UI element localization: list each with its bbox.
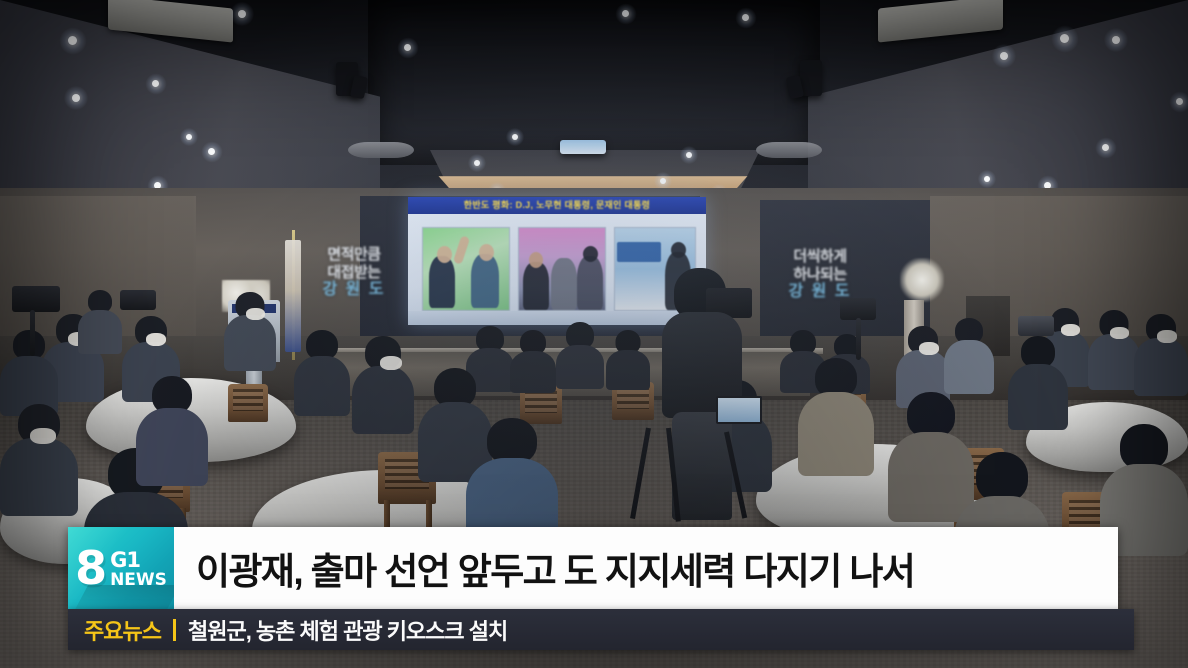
ceiling-light [512,134,518,140]
audience-person [556,322,604,386]
ticker-separator [173,619,176,641]
ceiling-light [208,148,215,155]
audience-person [136,376,208,484]
ceiling-projector-right [800,60,822,96]
audience-person [352,336,414,432]
broadcast-screenshot: 면적만큼 대접받는 강 원 도 더씩하게 하나되는 강 원 도 한반도 평화: … [0,0,1188,668]
camera-lcd-screen [716,396,762,424]
press-camera-tripod [30,310,35,356]
audience-person [798,358,874,474]
ceiling-vent-left [348,142,414,158]
projection-title-bar: 한반도 평화: D.J, 노무현 대통령, 문재인 대통령 [408,197,706,214]
ceiling-light [238,10,246,18]
projection-thumbnail [518,227,606,311]
ceiling-light [1102,144,1109,151]
ceiling-light [1112,36,1120,44]
projector-unit [1018,316,1054,336]
ceiling-vent-right [756,142,822,158]
audience-person [78,290,122,352]
ceiling-light [660,178,666,184]
ceiling-light [622,10,629,17]
projection-thumbnail [422,227,510,311]
projection-title-text: 한반도 평화: D.J, 노무현 대통령, 문재인 대통령 [408,197,706,214]
ceiling-light [474,160,480,166]
ceiling-light [152,80,159,87]
ticker-headline-text: 철원군, 농촌 체험 관광 키오스크 설치 [188,614,507,646]
ticker-label: 주요뉴스 [84,614,161,646]
left-banner-line3: 강 원 도 [310,281,398,300]
ceiling-light [1000,52,1008,60]
audience-person [1088,310,1140,388]
audience-person [1008,336,1068,428]
ceiling-display-center [560,140,606,154]
audience-person [0,404,78,514]
ceiling-light [984,176,990,182]
left-banner-line1: 면적만큼 [310,246,398,264]
audience-person [1134,314,1188,394]
lower-third-banner: 8 G1 NEWS 이광재, 출마 선언 앞두고 도 지지세력 다지기 나서 [68,527,1118,609]
camera-operator [660,268,746,518]
logo-program-number: 8 [75,545,107,591]
press-camera-right-tripod [856,318,861,360]
logo-channel-name: G1 [110,550,167,571]
ceiling-light [742,14,749,21]
press-camera-right [840,298,876,320]
audience-person [466,418,558,542]
audience-person [944,318,994,392]
ceiling-light [686,152,692,158]
channel-logo: 8 G1 NEWS [68,527,174,609]
left-banner-line2: 대접받는 [310,264,398,282]
logo-news-word: NEWS [110,572,167,589]
news-ticker-bar: 주요뉴스 철원군, 농촌 체험 관광 키오스크 설치 [68,609,1134,650]
audience-person [224,292,276,368]
press-camera-left [12,286,60,312]
audience-person [294,330,350,414]
audience-person [510,330,556,390]
right-banner-line2: 하나되는 [774,266,866,284]
operator-legs [672,412,732,520]
ceiling-light [404,44,411,51]
chair [228,384,268,422]
left-banner-text: 면적만큼 대접받는 강 원 도 [310,246,398,300]
headline-text: 이광재, 출마 선언 앞두고 도 지지세력 다지기 나서 [196,541,914,595]
audience-person [0,330,58,414]
right-banner-text: 더씩하게 하나되는 강 원 도 [774,248,866,302]
ceiling-light [186,134,192,140]
ceiling-light [1060,34,1069,43]
right-banner-line1: 더씩하게 [774,248,866,266]
press-camera-left-2 [120,290,156,310]
ceiling-light [72,94,80,102]
flower-arrangement-right [900,258,944,302]
audience-person [606,330,650,388]
ceiling-light [68,36,77,45]
headline-container: 이광재, 출마 선언 앞두고 도 지지세력 다지기 나서 [174,527,1118,609]
ceiling-light [1176,98,1183,105]
